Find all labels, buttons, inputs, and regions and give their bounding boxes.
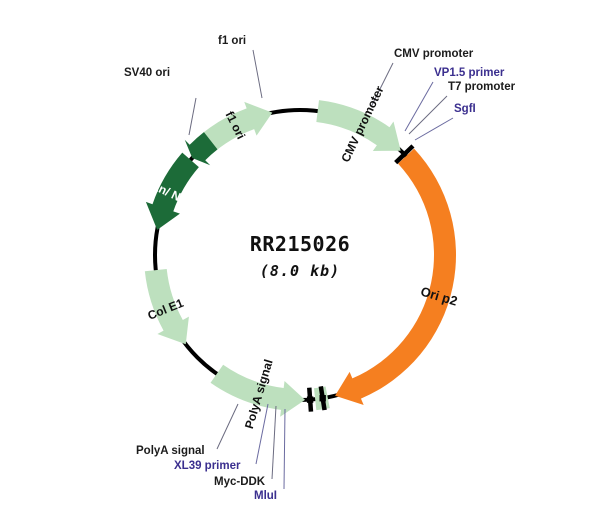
t7-promoter-label[interactable]: T7 promoter [448, 82, 515, 94]
leader-line-f1-ori-label [253, 50, 262, 98]
site-dot-2[interactable] [307, 396, 313, 402]
leader-line-polya-signal-label [217, 404, 238, 449]
leader-line-myc-ddk-label [272, 406, 276, 479]
plasmid-size: (8.0 kb) [0, 262, 600, 280]
leader-line-mlui-label [284, 409, 285, 489]
sv40-ori-label[interactable]: SV40 ori [124, 68, 170, 80]
leader-line-sgfi-label [415, 118, 453, 140]
polya-signal-label[interactable]: PolyA signal [136, 446, 205, 458]
sgfi-label[interactable]: SgfI [454, 104, 476, 116]
site-dot-1[interactable] [319, 395, 325, 401]
feature-arrow-labels: f1 oriCMV promoterOri p2PolyA signalCol … [143, 84, 460, 431]
mlui-label[interactable]: MluI [254, 491, 277, 503]
xl39-primer-label[interactable]: XL39 primer [174, 461, 240, 473]
cmv-promoter-label[interactable]: CMV promoter [394, 49, 473, 61]
f1-ori-label[interactable]: f1 ori [218, 36, 246, 48]
plasmid-name: RR215026 [0, 232, 600, 256]
vp15-primer-label[interactable]: VP1.5 primer [434, 68, 504, 80]
leader-line-sv40-ori-label [189, 98, 196, 135]
myc-ddk-label[interactable]: Myc-DDK [214, 477, 265, 489]
plasmid-map: f1 oriCMV promoterOri p2PolyA signalCol … [0, 0, 600, 512]
